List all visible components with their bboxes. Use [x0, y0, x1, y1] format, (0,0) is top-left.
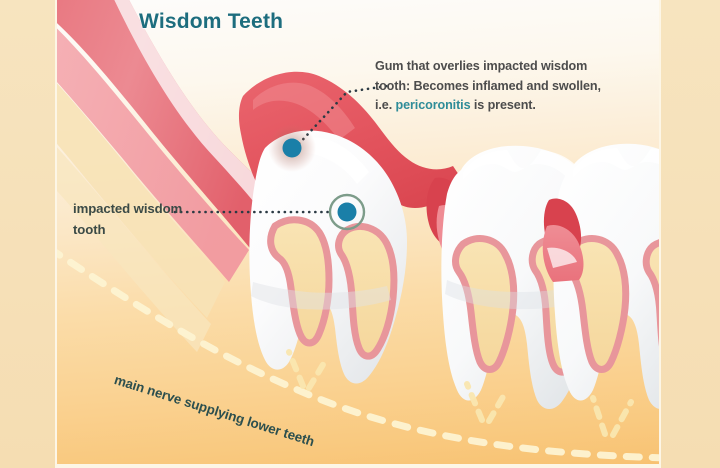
gum-callout-line-1: Gum that overlies impacted wisdom — [375, 59, 587, 73]
gum-marker[interactable] — [268, 124, 316, 172]
gum-callout-line-3-suffix: is present. — [470, 98, 535, 112]
page-title: Wisdom Teeth — [139, 10, 283, 34]
pericoronitis-term: pericoronitis — [396, 98, 471, 112]
impacted-tooth-callout-text: impacted wisdom tooth — [73, 198, 182, 240]
impacted-callout-line-2: tooth — [73, 222, 105, 237]
illustration-page: Wisdom Teeth Gum that overlies impacted … — [0, 0, 720, 468]
wisdom-teeth-illustration: Wisdom Teeth Gum that overlies impacted … — [57, 0, 659, 464]
impacted-callout-line-1: impacted wisdom — [73, 201, 182, 216]
gum-callout-line-2: tooth: Becomes inflamed and swollen, — [375, 79, 601, 93]
gum-callout-text: Gum that overlies impacted wisdom tooth:… — [375, 57, 601, 116]
gum-callout-line-3-prefix: i.e. — [375, 98, 396, 112]
